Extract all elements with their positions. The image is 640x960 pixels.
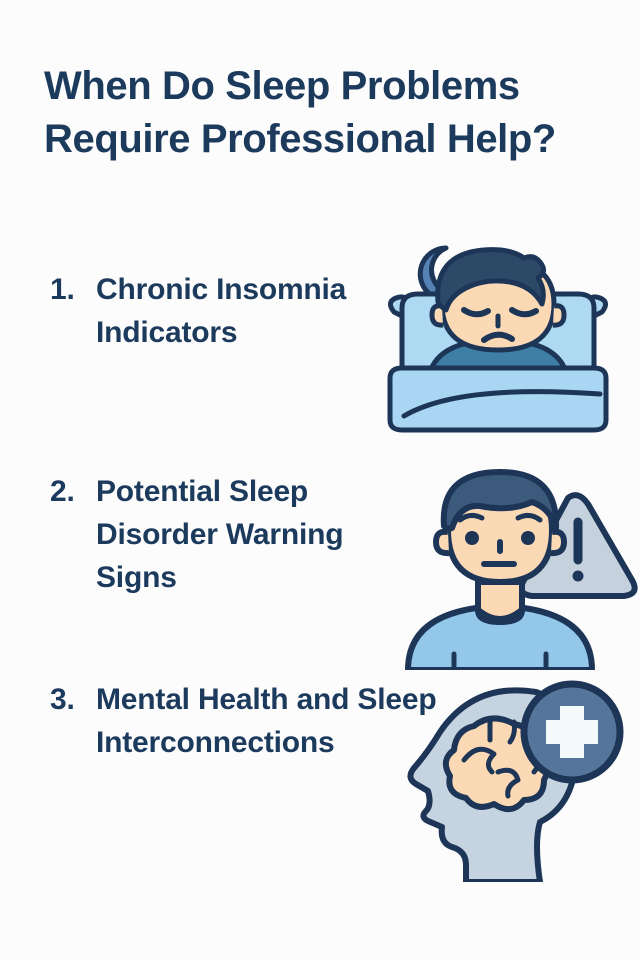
list-item-text: 3. Mental Health and Sleep Interconnecti…: [50, 678, 442, 764]
page-title-line-2: Require Professional Help?: [44, 113, 604, 166]
list-item-label: Potential Sleep Disorder Warning Signs: [96, 470, 422, 600]
list-item-text: 2. Potential Sleep Disorder Warning Sign…: [50, 470, 422, 600]
list-item: 1. Chronic Insomnia Indicators: [0, 246, 640, 452]
list-item: 3. Mental Health and Sleep Interconnecti…: [0, 658, 640, 864]
page-title: When Do Sleep Problems Require Professio…: [44, 60, 604, 166]
sleeping-person-with-moon-icon: [372, 230, 624, 436]
person-with-warning-triangle-icon: [392, 464, 640, 670]
numbered-list: 1. Chronic Insomnia Indicators: [0, 246, 640, 864]
page-title-line-1: When Do Sleep Problems: [44, 60, 604, 113]
list-item-number: 1.: [50, 268, 96, 311]
list-item-number: 3.: [50, 678, 96, 721]
head-with-brain-and-medical-plus-icon: [386, 676, 638, 882]
infographic-poster: When Do Sleep Problems Require Professio…: [0, 0, 640, 960]
list-item: 2. Potential Sleep Disorder Warning Sign…: [0, 452, 640, 658]
list-item-number: 2.: [50, 470, 96, 513]
list-item-text: 1. Chronic Insomnia Indicators: [50, 268, 422, 354]
